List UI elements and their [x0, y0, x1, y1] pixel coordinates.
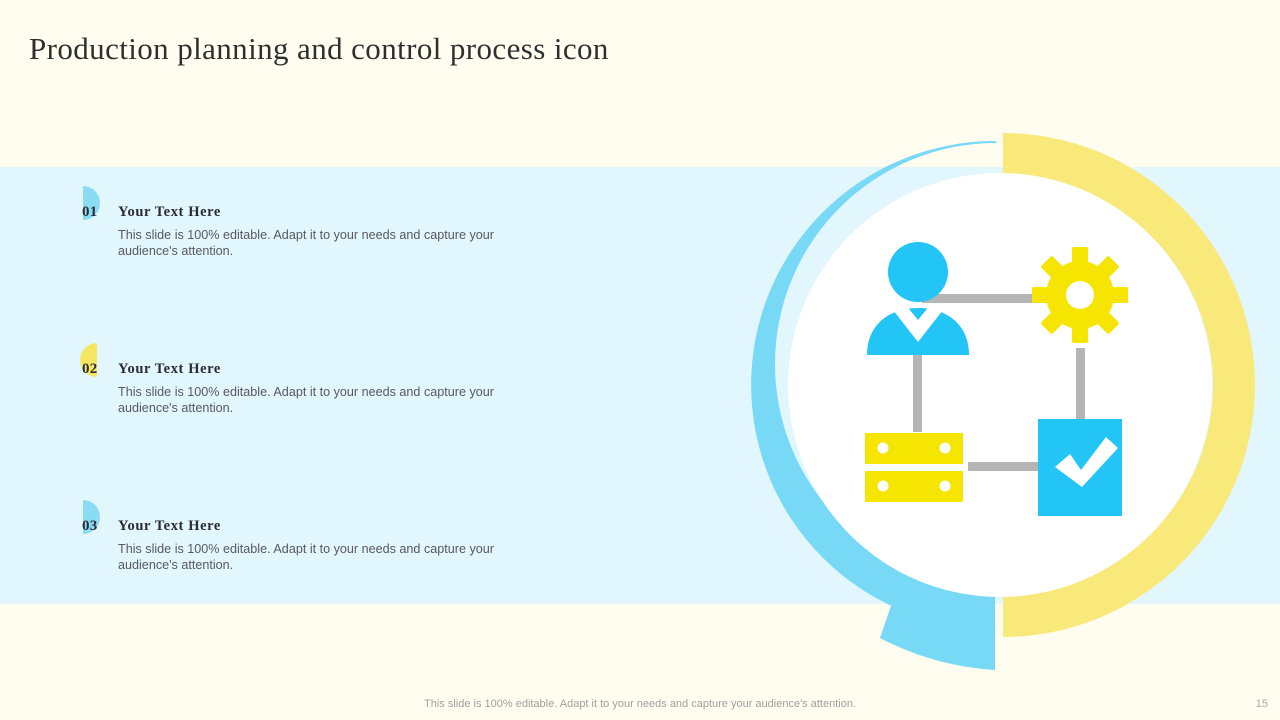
item-badge: 02 — [80, 343, 114, 380]
connector-gear-to-checkbox — [1076, 348, 1085, 428]
page-title: Production planning and control process … — [29, 28, 929, 70]
footer-note: This slide is 100% editable. Adapt it to… — [0, 697, 1280, 712]
page-number: 15 — [1256, 697, 1268, 712]
item-badge: 01 — [80, 186, 114, 223]
checkbox-check-icon — [1038, 419, 1122, 516]
process-flow-graphic — [710, 80, 1280, 690]
inner-white-circle — [788, 173, 1212, 597]
item-badge: 03 — [80, 500, 114, 537]
item-number: 03 — [82, 518, 112, 534]
item-body-text: This slide is 100% editable. Adapt it to… — [118, 541, 550, 573]
connector-person-to-server — [913, 352, 922, 432]
item-number: 01 — [82, 204, 112, 220]
item-body-text: This slide is 100% editable. Adapt it to… — [118, 227, 550, 259]
item-number: 02 — [82, 361, 112, 377]
item-body-text: This slide is 100% editable. Adapt it to… — [118, 384, 550, 416]
item-heading: Your Text Here — [118, 361, 221, 378]
slide-canvas: Production planning and control process … — [0, 0, 1280, 720]
gear-icon — [1032, 247, 1128, 343]
connector-server-to-checkbox — [968, 462, 1040, 471]
item-heading: Your Text Here — [118, 518, 221, 535]
item-heading: Your Text Here — [118, 204, 221, 221]
connector-person-to-gear — [922, 294, 1042, 303]
